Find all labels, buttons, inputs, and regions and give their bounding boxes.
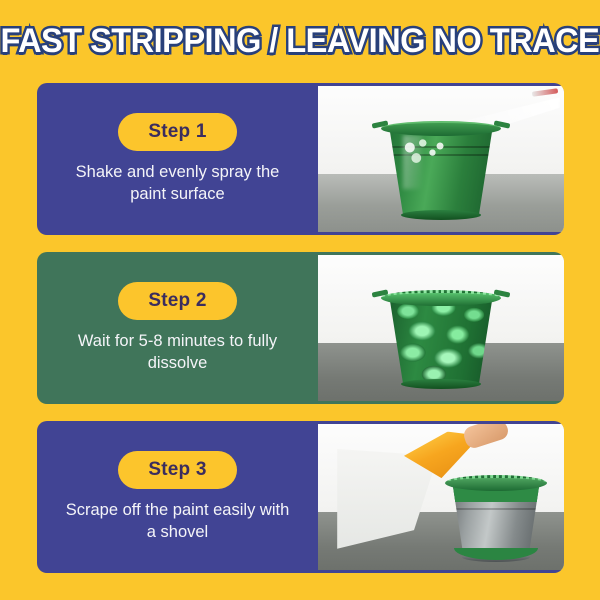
step-3-description: Scrape off the paint easily with a shove… — [60, 500, 295, 544]
step-1-photo — [318, 86, 564, 232]
bucket-body — [382, 126, 500, 216]
bucket-rim — [381, 121, 501, 136]
step-panel-3: Step 3 Scrape off the paint easily with … — [37, 421, 564, 573]
step-3-photo — [318, 424, 564, 570]
page-title: FAST STRIPPING / LEAVING NO TRACE — [1, 22, 600, 61]
step-3-badge: Step 3 — [118, 451, 236, 489]
step-2-photo — [318, 255, 564, 401]
step-panel-2: Step 2 Wait for 5-8 minutes to fully dis… — [37, 252, 564, 404]
step-3-text-block: Step 3 Scrape off the paint easily with … — [37, 421, 318, 573]
bare-metal-bucket — [446, 472, 546, 558]
bucket-base — [401, 379, 481, 389]
wet-paint-highlight — [399, 137, 453, 168]
step-2-badge: Step 2 — [118, 282, 236, 320]
step-2-description: Wait for 5-8 minutes to fully dissolve — [60, 331, 295, 375]
step-1-description: Shake and evenly spray the paint surface — [60, 162, 295, 206]
step-1-text-block: Step 1 Shake and evenly spray the paint … — [37, 83, 318, 235]
bucket-base — [401, 210, 481, 220]
bucket-rim — [381, 290, 501, 306]
bucket-rib — [450, 508, 542, 510]
bucket-rim — [445, 475, 547, 491]
step-panel-1: Step 1 Shake and evenly spray the paint … — [37, 83, 564, 235]
bucket-body — [382, 295, 500, 385]
step-1-badge: Step 1 — [118, 113, 236, 151]
infographic-poster: FAST STRIPPING / LEAVING NO TRACE Step 1… — [0, 0, 600, 600]
title-bar: FAST STRIPPING / LEAVING NO TRACE — [0, 14, 600, 68]
step-2-text-block: Step 2 Wait for 5-8 minutes to fully dis… — [37, 252, 318, 404]
blistered-bucket — [382, 287, 500, 385]
green-bucket — [382, 118, 500, 216]
